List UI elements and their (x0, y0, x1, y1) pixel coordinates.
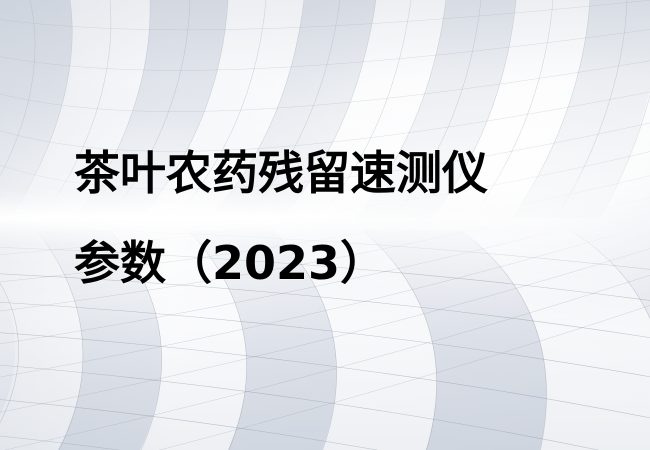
title-line-primary: 茶叶农药残留速测仪 (74, 128, 594, 218)
title-banner: 茶叶农药残留速测仪 参数（2023） (0, 0, 650, 450)
title-line-secondary: 参数（2023） (74, 218, 594, 308)
page-title: 茶叶农药残留速测仪 参数（2023） (74, 128, 594, 308)
